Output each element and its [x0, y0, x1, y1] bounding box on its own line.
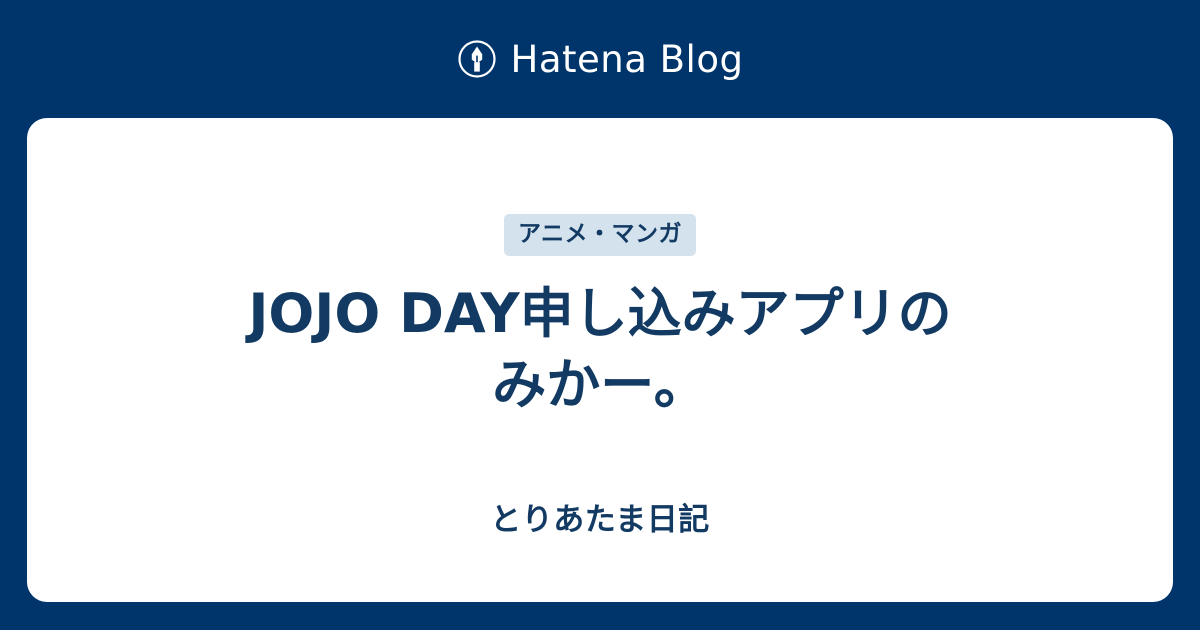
pen-nib-in-circle-icon — [457, 39, 497, 79]
hatena-blog-og-card: Hatena Blog アニメ・マンガ JOJO DAY申し込みアプリのみかー。… — [0, 0, 1200, 630]
category-badge[interactable]: アニメ・マンガ — [504, 214, 696, 256]
blog-name[interactable]: とりあたま日記 — [27, 505, 1173, 536]
brand-header: Hatena Blog — [0, 0, 1200, 118]
entry-title: JOJO DAY申し込みアプリのみかー。 — [235, 278, 965, 421]
brand-name: Hatena Blog — [511, 41, 744, 78]
entry-card: アニメ・マンガ JOJO DAY申し込みアプリのみかー。 とりあたま日記 — [27, 118, 1173, 602]
